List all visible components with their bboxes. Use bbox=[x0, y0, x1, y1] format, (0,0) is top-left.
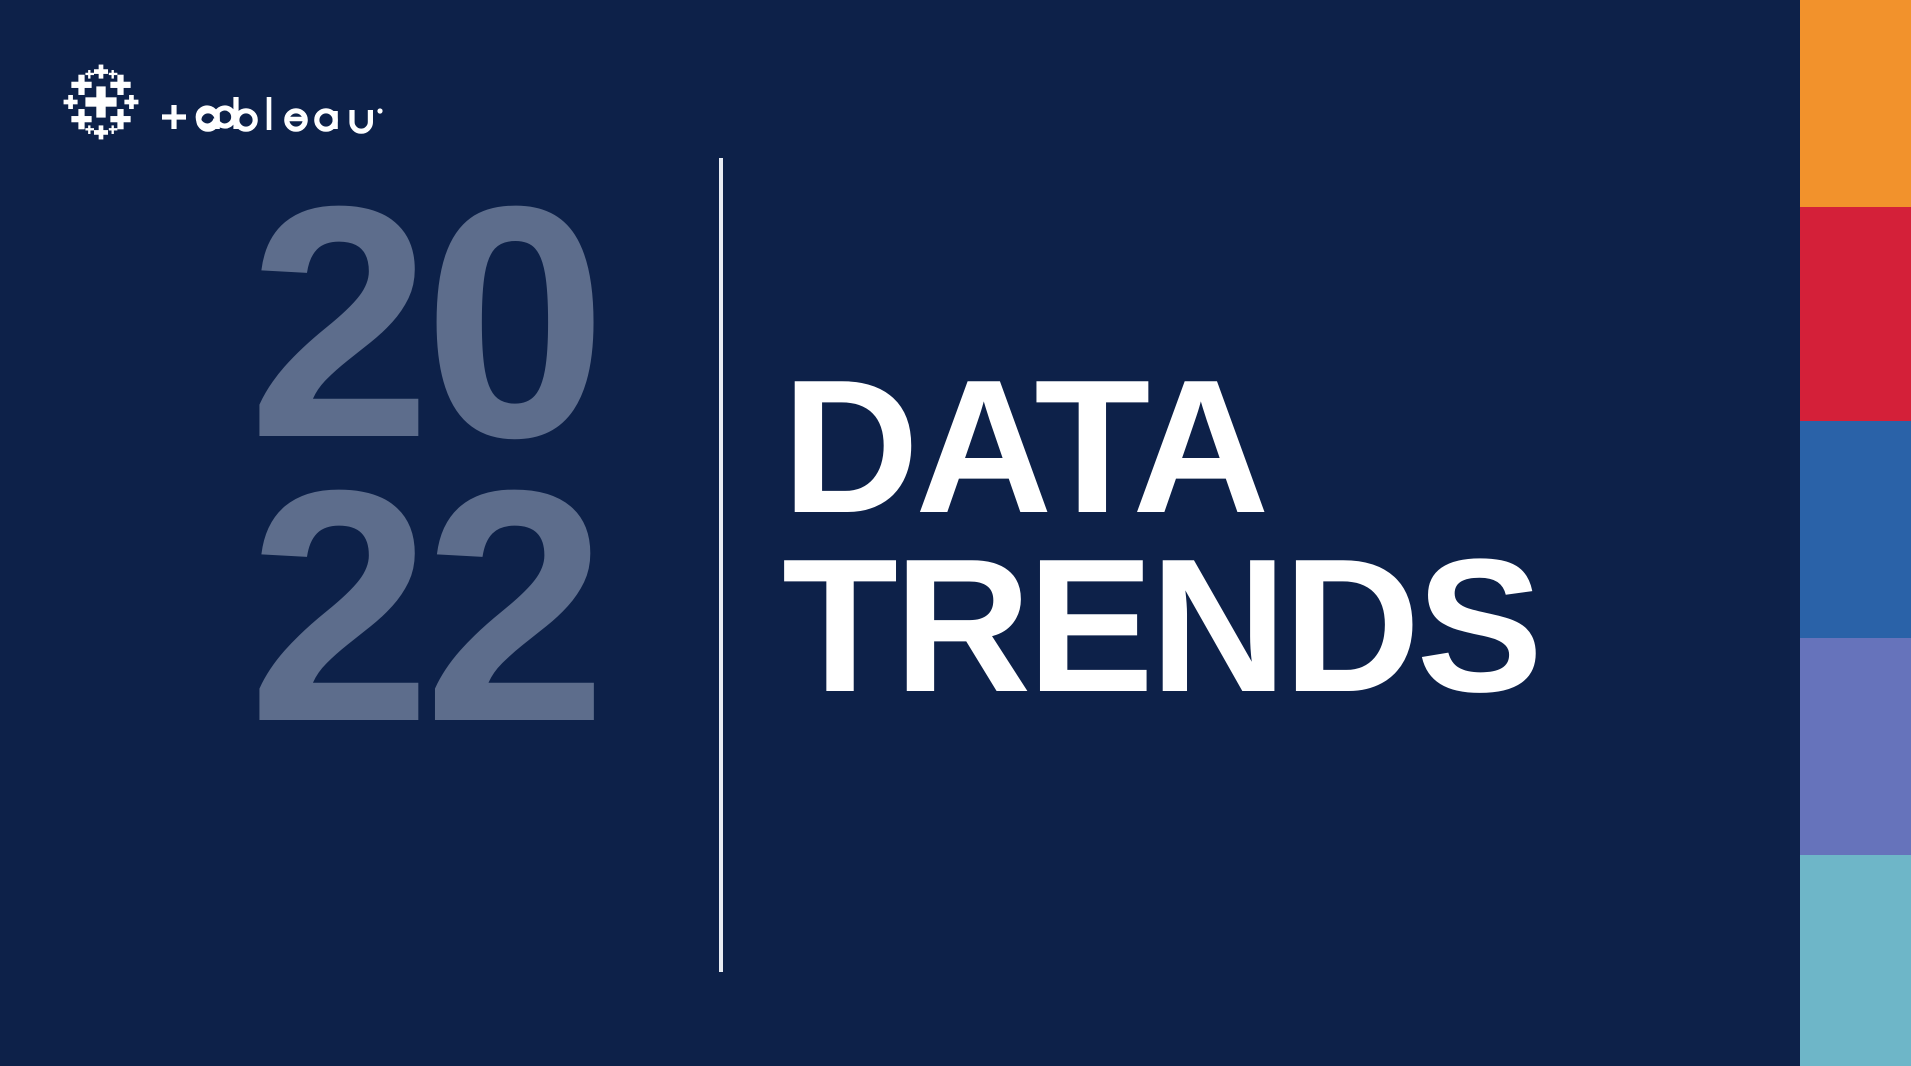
headline-line-2: TRENDS bbox=[782, 537, 1539, 716]
color-stripe-bar bbox=[1800, 0, 1911, 1066]
headline-line-1: DATA bbox=[782, 358, 1539, 537]
vertical-divider-rule bbox=[719, 158, 723, 972]
stripe-periwinkle bbox=[1800, 638, 1911, 855]
slide-canvas: 20 22 DATA TRENDS bbox=[0, 0, 1911, 1066]
stripe-teal bbox=[1800, 855, 1911, 1066]
stripe-orange bbox=[1800, 0, 1911, 207]
ghost-year: 20 22 bbox=[248, 180, 599, 748]
tableau-wordmark bbox=[158, 59, 390, 145]
stripe-red bbox=[1800, 207, 1911, 421]
ghost-year-bottom: 22 bbox=[248, 464, 599, 748]
tableau-plus-grid-logo-icon bbox=[62, 63, 140, 141]
stripe-blue bbox=[1800, 421, 1911, 638]
tableau-logo[interactable] bbox=[62, 62, 390, 142]
page-title: DATA TRENDS bbox=[782, 358, 1539, 715]
